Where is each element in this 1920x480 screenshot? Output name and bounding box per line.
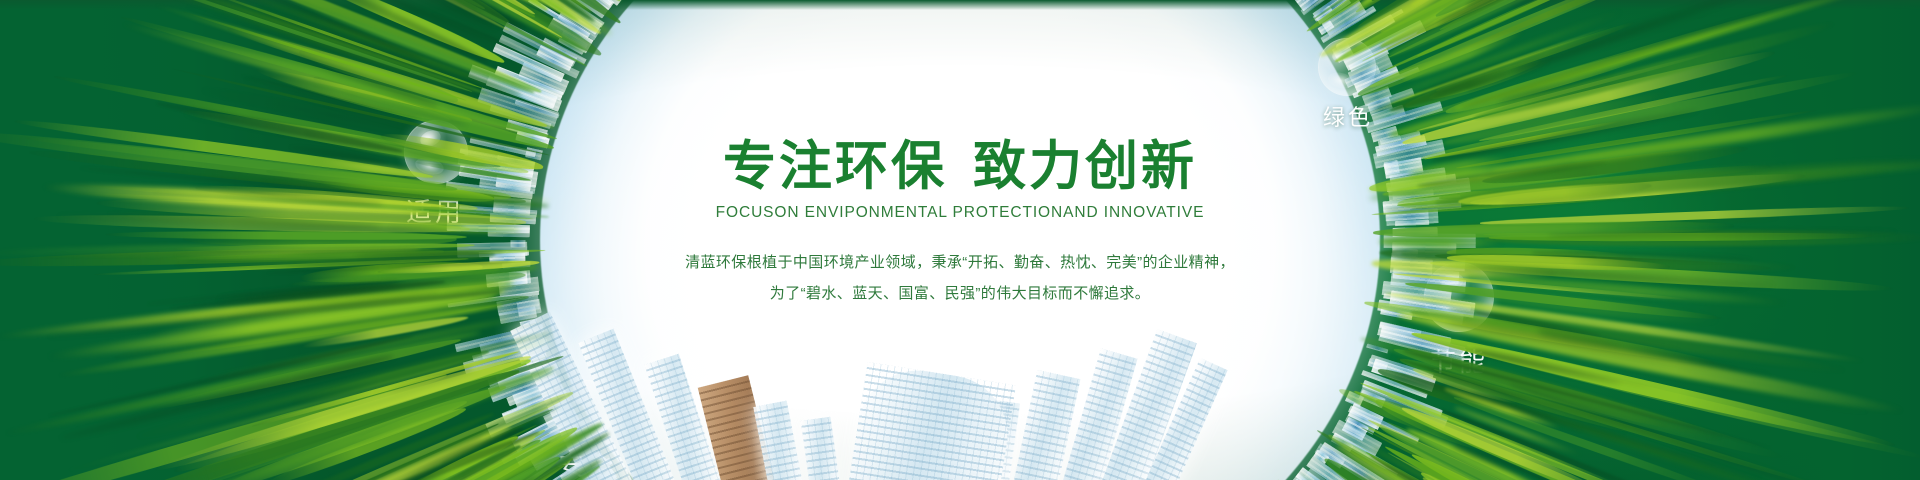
seagull-icon-right — [919, 44, 1003, 96]
headline-part-1: 专注环保 — [723, 137, 947, 196]
headline-subtitle: FOCUSON ENVIPONMENTAL PROTECTIONAND INNO… — [0, 204, 1920, 222]
page-title: 专注环保致力创新 — [0, 138, 1920, 195]
banner-text-block: 专注环保致力创新 FOCUSON ENVIPONMENTAL PROTECTIO… — [0, 138, 1920, 309]
headline-part-2: 致力创新 — [973, 137, 1197, 196]
body-line-2: 为了“碧水、蓝天、国富、民强”的伟大目标而不懈追求。 — [0, 279, 1920, 309]
eco-banner: 适用 安全 绿色 节能 专注环保致力创新 FOCUSON ENVIPONMENT… — [0, 0, 1920, 480]
body-paragraph: 清蓝环保根植于中国环境产业领域，秉承“开拓、勤奋、热忱、完美”的企业精神， 为了… — [0, 248, 1920, 309]
body-line-1: 清蓝环保根植于中国环境产业领域，秉承“开拓、勤奋、热忱、完美”的企业精神， — [0, 248, 1920, 278]
